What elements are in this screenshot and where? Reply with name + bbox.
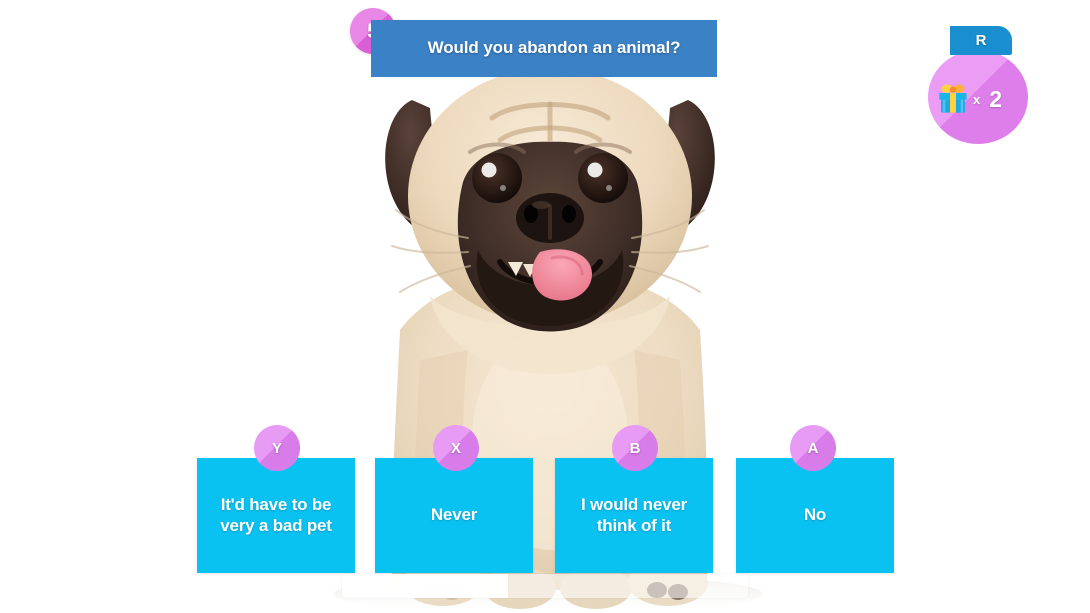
progress-bar [342,574,748,598]
reward-key-label: R [976,33,987,48]
answer-label: I would never think of it [562,495,706,536]
answer-button-x[interactable]: Never [375,458,533,573]
gift-icon [936,82,970,116]
quiz-screen: 5 Would you abandon an animal? R [0,0,1090,613]
question-bar: Would you abandon an animal? [371,20,717,77]
answer-button-a[interactable]: No [736,458,894,573]
answer-key-label: Y [272,441,282,456]
question-text: Would you abandon an animal? [428,39,681,58]
answer-key-label: B [630,441,641,456]
reward-count: 2 [989,86,1002,113]
answer-key-label: X [451,441,461,456]
answer-label: No [804,505,826,525]
answer-button-b[interactable]: I would never think of it [555,458,713,573]
answer-button-y[interactable]: It'd have to be very a bad pet [197,458,355,573]
answer-key-badge-b: B [612,425,658,471]
reward-key-tab[interactable]: R [950,26,1012,55]
answer-key-label: A [808,441,819,456]
answer-options: It'd have to be very a bad pet Y Never X… [197,425,893,573]
answer-key-badge-y: Y [254,425,300,471]
reward-row: x 2 [936,78,1028,120]
reward-multiplier-symbol: x [973,92,980,107]
reward-widget[interactable]: R x 2 [928,26,1032,144]
answer-label: Never [431,505,477,525]
answer-key-badge-a: A [790,425,836,471]
progress-bar-fill [342,574,508,598]
answer-key-badge-x: X [433,425,479,471]
answer-label: It'd have to be very a bad pet [204,495,348,536]
